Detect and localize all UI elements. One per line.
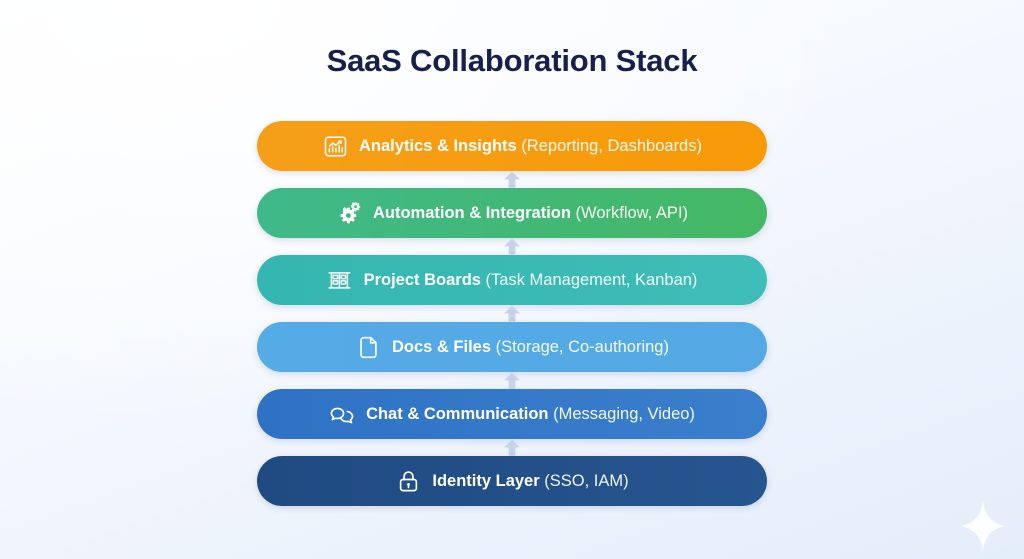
arrow-up-icon [257, 171, 767, 188]
arrow-up-icon [257, 372, 767, 389]
chart-icon [322, 133, 348, 159]
layer-chat[interactable]: Chat & Communication (Messaging, Video) [257, 389, 767, 439]
page-title: SaaS Collaboration Stack [0, 43, 1024, 79]
layer-label: Project Boards (Task Management, Kanban) [364, 272, 698, 289]
layer-content: Analytics & Insights (Reporting, Dashboa… [322, 133, 702, 159]
layer-label: Analytics & Insights (Reporting, Dashboa… [359, 138, 702, 155]
layer-content: Automation & Integration (Workflow, API) [336, 200, 688, 226]
lock-icon [395, 468, 421, 494]
sparkle-icon [960, 500, 1006, 552]
layer-content: Docs & Files (Storage, Co-authoring) [355, 334, 669, 360]
layer-docs-files[interactable]: Docs & Files (Storage, Co-authoring) [257, 322, 767, 372]
layer-label: Automation & Integration (Workflow, API) [373, 205, 688, 222]
layer-content: Chat & Communication (Messaging, Video) [329, 401, 695, 427]
layered-stack: Analytics & Insights (Reporting, Dashboa… [257, 121, 767, 506]
layer-automation[interactable]: Automation & Integration (Workflow, API) [257, 188, 767, 238]
diagram-canvas: SaaS Collaboration Stack Analytics & Ins… [0, 0, 1024, 559]
layer-label: Identity Layer (SSO, IAM) [432, 473, 628, 490]
layer-label: Chat & Communication (Messaging, Video) [366, 406, 695, 423]
layer-title: Identity Layer [432, 472, 539, 490]
layer-analytics[interactable]: Analytics & Insights (Reporting, Dashboa… [257, 121, 767, 171]
layer-content: Identity Layer (SSO, IAM) [395, 468, 628, 494]
layer-detail: (SSO, IAM) [544, 472, 628, 490]
document-icon [355, 334, 381, 360]
layer-title: Analytics & Insights [359, 137, 517, 155]
layer-detail: (Reporting, Dashboards) [521, 137, 702, 155]
layer-identity[interactable]: Identity Layer (SSO, IAM) [257, 456, 767, 506]
layer-label: Docs & Files (Storage, Co-authoring) [392, 339, 669, 356]
layer-detail: (Workflow, API) [576, 204, 688, 222]
layer-title: Automation & Integration [373, 204, 571, 222]
layer-title: Docs & Files [392, 338, 491, 356]
layer-project-boards[interactable]: Project Boards (Task Management, Kanban) [257, 255, 767, 305]
layer-title: Chat & Communication [366, 405, 548, 423]
arrow-up-icon [257, 305, 767, 322]
layer-detail: (Task Management, Kanban) [486, 271, 698, 289]
layer-detail: (Messaging, Video) [553, 405, 695, 423]
kanban-board-icon [327, 267, 353, 293]
arrow-up-icon [257, 238, 767, 255]
layer-detail: (Storage, Co-authoring) [496, 338, 669, 356]
arrow-up-icon [257, 439, 767, 456]
gears-icon [336, 200, 362, 226]
layer-content: Project Boards (Task Management, Kanban) [327, 267, 698, 293]
chat-bubbles-icon [329, 401, 355, 427]
layer-title: Project Boards [364, 271, 481, 289]
